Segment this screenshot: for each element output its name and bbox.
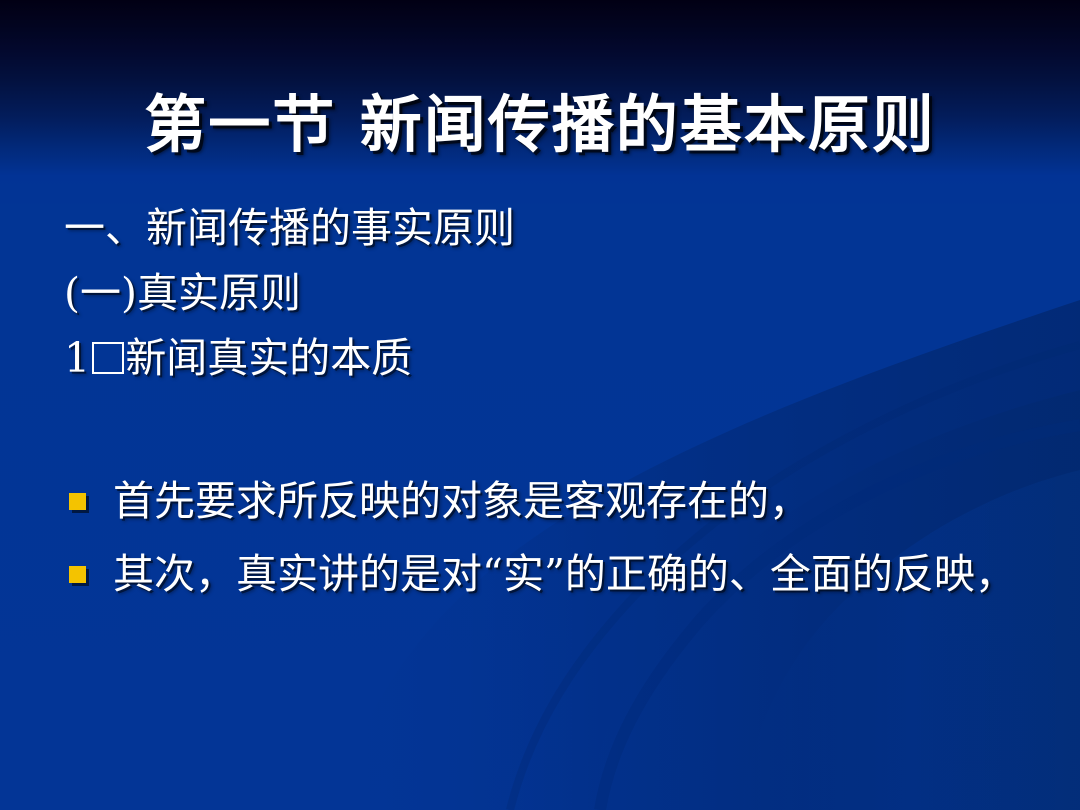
slide-body: 一、新闻传播的事实原则 (一)真实原则 1新闻真实的本质 首先要求所反映的对象是… [64, 196, 1024, 603]
bullet-item: 首先要求所反映的对象是客观存在的， [64, 473, 1024, 530]
slide-title-block: 第一节 新闻传播的基本原则 [0, 48, 1080, 201]
body-line-subsection-heading: (一)真实原则 [64, 261, 1024, 326]
bullet-item: 其次，真实讲的是对“实”的正确的、全面的反映， [64, 546, 1024, 603]
missing-glyph-box-icon [92, 342, 124, 374]
slide-title: 第一节 新闻传播的基本原则 [144, 90, 936, 159]
numbered-point-suffix: 新闻真实的本质 [125, 334, 412, 382]
body-line-numbered-point: 1新闻真实的本质 [64, 326, 1024, 391]
presentation-slide: 第一节 新闻传播的基本原则 一、新闻传播的事实原则 (一)真实原则 1新闻真实的… [0, 0, 1080, 810]
numbered-point-prefix: 1 [64, 334, 90, 382]
body-line-section-heading: 一、新闻传播的事实原则 [64, 196, 1024, 261]
square-bullet-icon [69, 493, 86, 510]
bullet-list: 首先要求所反映的对象是客观存在的， 其次，真实讲的是对“实”的正确的、全面的反映… [64, 473, 1024, 603]
paragraph-spacer [64, 391, 1024, 473]
bullet-item-label: 其次，真实讲的是对“实”的正确的、全面的反映， [113, 546, 1024, 603]
square-bullet-icon [69, 566, 86, 583]
bullet-item-label: 首先要求所反映的对象是客观存在的， [113, 473, 1024, 530]
